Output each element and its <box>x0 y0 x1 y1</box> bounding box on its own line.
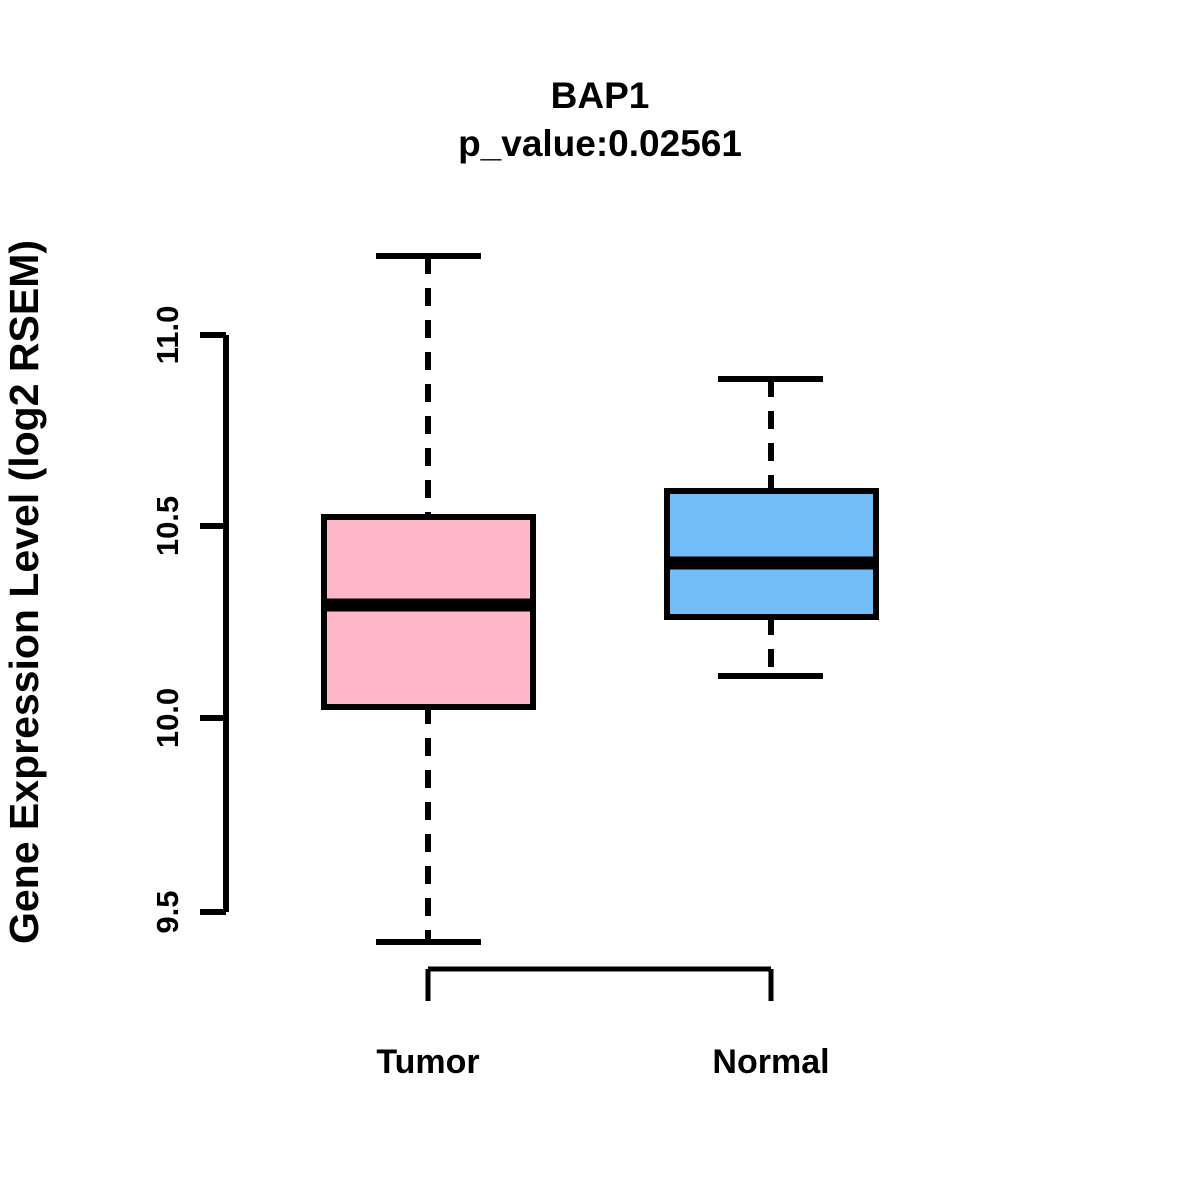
y-tick-label-10-5: 10.5 <box>150 496 185 556</box>
y-tick-label-10-0: 10.0 <box>150 688 185 748</box>
chart-title: BAP1 <box>551 75 650 116</box>
box-body-normal <box>667 491 876 617</box>
box-group-normal <box>665 379 878 676</box>
y-axis <box>200 335 226 912</box>
y-tick-label-11: 11.0 <box>150 306 185 365</box>
plot-canvas: BAP1 p_value:0.02561 Gene Expression Lev… <box>0 0 1200 1200</box>
box-group-tumor <box>322 256 535 942</box>
x-axis <box>428 969 771 1001</box>
y-tick-label-9-5: 9.5 <box>150 890 185 933</box>
box-body-tumor <box>324 517 533 707</box>
x-label-tumor: Tumor <box>376 1043 479 1081</box>
x-label-normal: Normal <box>712 1043 829 1081</box>
chart-subtitle: p_value:0.02561 <box>458 123 742 164</box>
y-axis-title: Gene Expression Level (log2 RSEM) <box>1 240 47 944</box>
boxplot-figure: BAP1 p_value:0.02561 Gene Expression Lev… <box>0 0 1200 1200</box>
